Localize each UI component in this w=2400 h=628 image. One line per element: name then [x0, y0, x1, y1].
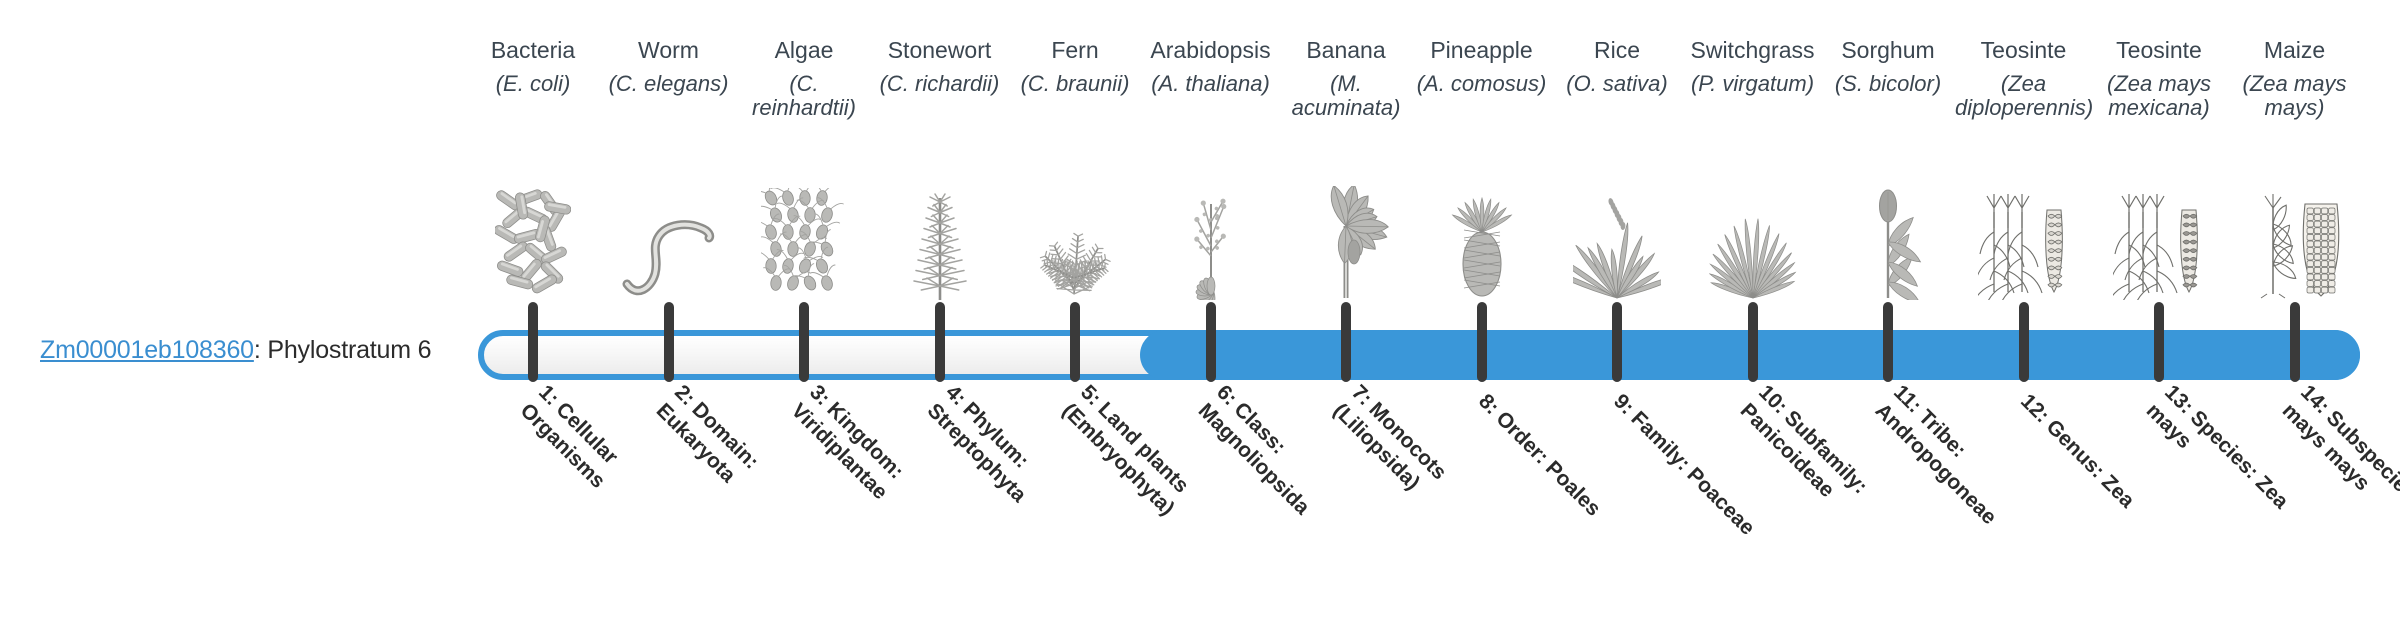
organism-common-name: Switchgrass [1684, 38, 1821, 63]
organism-column[interactable]: Sorghum (S. bicolor) [1820, 0, 1957, 580]
organism-column[interactable]: Algae (C. reinhardtii) [736, 0, 873, 580]
organism-scientific-name: (S. bicolor) [1820, 72, 1957, 96]
phylostratum-tick[interactable] [1748, 302, 1758, 382]
organism-scientific-name: (E. coli) [465, 72, 602, 96]
arabidopsis-icon [1142, 170, 1279, 300]
banana-icon [1278, 170, 1415, 300]
organism-column[interactable]: Fern (C. braunii) 5: Land plants (Embryo… [1007, 0, 1144, 580]
rank-text: 14: Subspecies: Zea mays mays [2276, 380, 2400, 565]
organism-scientific-name: (O. sativa) [1549, 72, 1686, 96]
phylostratum-tick[interactable] [1070, 302, 1080, 382]
organism-column[interactable]: Banana (M. acuminata) [1278, 0, 1415, 580]
organism-column[interactable]: Teosinte (Zea mays mexicana) 13: Species… [2091, 0, 2228, 580]
organism-scientific-name: (C. braunii) [1007, 72, 1144, 96]
phylostratum-tick[interactable] [935, 302, 945, 382]
organism-common-name: Worm [600, 38, 737, 63]
organism-scientific-name: (C. richardii) [871, 72, 1008, 96]
gene-phylostratum-label: Zm00001eb108360: Phylostratum 6 [40, 336, 460, 365]
organism-scientific-name: (C. elegans) [600, 72, 737, 96]
organism-common-name: Rice [1549, 38, 1686, 63]
organism-column[interactable]: Switchgrass (P. virgatum) [1684, 0, 1821, 580]
organism-common-name: Arabidopsis [1142, 38, 1279, 63]
phylostratum-tick[interactable] [1612, 302, 1622, 382]
gene-label-separator: : [254, 336, 268, 364]
organism-common-name: Maize [2226, 38, 2363, 63]
gene-accession-link[interactable]: Zm00001eb108360 [40, 336, 254, 364]
organism-scientific-name: (M. acuminata) [1278, 72, 1415, 120]
organism-common-name: Teosinte [2091, 38, 2228, 63]
organism-common-name: Banana [1278, 38, 1415, 63]
organism-common-name: Algae [736, 38, 873, 63]
phylostratum-tick[interactable] [2154, 302, 2164, 382]
organism-column[interactable]: Worm (C. elegans) 2: Domain: Eukaryota [600, 0, 737, 580]
pineapple-icon [1413, 170, 1550, 300]
organism-common-name: Teosinte [1955, 38, 2092, 63]
phylostratum-tick[interactable] [799, 302, 809, 382]
switchgrass-icon [1684, 170, 1821, 300]
worm-icon [600, 170, 737, 300]
bacteria-icon [465, 170, 602, 300]
fern-icon [1007, 170, 1144, 300]
organism-common-name: Stonewort [871, 38, 1008, 63]
phylostratum-tick[interactable] [528, 302, 538, 382]
organism-scientific-name: (Zea mays mexicana) [2091, 72, 2228, 120]
algae-icon [736, 170, 873, 300]
stonewort-icon [871, 170, 1008, 300]
phylostratum-tick[interactable] [1477, 302, 1487, 382]
rice-icon [1549, 170, 1686, 300]
phylostratum-tick[interactable] [2290, 302, 2300, 382]
organism-common-name: Bacteria [465, 38, 602, 63]
sorghum-icon [1820, 170, 1957, 300]
phylostratum-value-text: Phylostratum 6 [267, 336, 431, 364]
organism-scientific-name: (Zea mays mays) [2226, 72, 2363, 120]
organism-column[interactable]: Bacteria (E. coli) [465, 0, 602, 580]
organism-scientific-name: (A. thaliana) [1142, 72, 1279, 96]
organism-scientific-name: (P. virgatum) [1684, 72, 1821, 96]
phylostratum-timeline: Zm00001eb108360: Phylostratum 6 Bacteria… [0, 0, 2400, 580]
phylostratum-tick[interactable] [1341, 302, 1351, 382]
teosinte-diplo-icon [1955, 170, 2092, 300]
organism-column[interactable]: Maize (Zea mays mays) [2226, 0, 2363, 580]
organism-common-name: Pineapple [1413, 38, 1550, 63]
maize-icon [2226, 170, 2363, 300]
organism-column[interactable]: Pineapple (A. comosus) [1413, 0, 1550, 580]
phylostratum-tick[interactable] [1883, 302, 1893, 382]
organism-column[interactable]: Rice (O. sativa) [1549, 0, 1686, 580]
organism-scientific-name: (Zea diploperennis) [1955, 72, 2092, 120]
teosinte-mexicana-icon [2091, 170, 2228, 300]
organism-common-name: Fern [1007, 38, 1144, 63]
phylostratum-tick[interactable] [1206, 302, 1216, 382]
organism-column[interactable]: Teosinte (Zea diploperennis) 12: Genus: … [1955, 0, 2092, 580]
phylostratum-tick[interactable] [664, 302, 674, 382]
organism-common-name: Sorghum [1820, 38, 1957, 63]
organism-scientific-name: (C. reinhardtii) [736, 72, 873, 120]
phylostratum-tick[interactable] [2019, 302, 2029, 382]
organism-scientific-name: (A. comosus) [1413, 72, 1550, 96]
organism-column[interactable]: Arabidopsis (A. thaliana) [1142, 0, 1279, 580]
organism-column[interactable]: Stonewort (C. richardii) [871, 0, 1008, 580]
